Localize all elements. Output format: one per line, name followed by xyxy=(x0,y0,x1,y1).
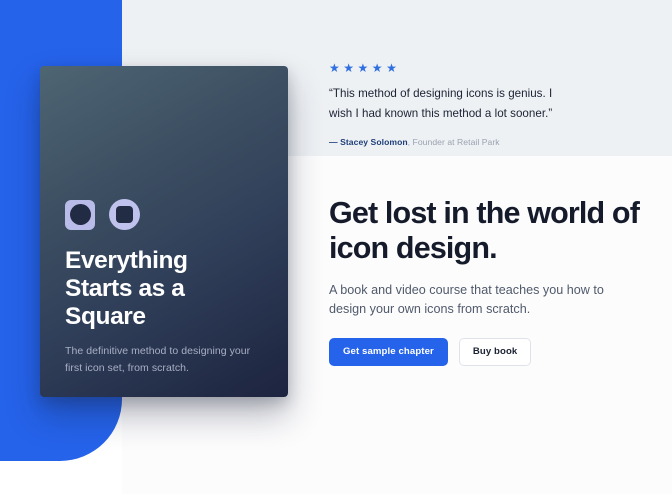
star-icon: ★ xyxy=(358,62,369,74)
testimonial-quote: “This method of designing icons is geniu… xyxy=(329,84,569,124)
buy-book-button[interactable]: Buy book xyxy=(459,338,532,366)
testimonial-author: Stacey Solomon xyxy=(340,137,408,147)
attribution-dash: — xyxy=(329,137,338,147)
book-title: Everything Starts as a Square xyxy=(65,247,245,331)
landing-page: Everything Starts as a Square The defini… xyxy=(0,0,672,494)
page-title: Get lost in the world of icon design. xyxy=(329,196,641,266)
book-cover-icons xyxy=(65,199,140,230)
hero-section: Get lost in the world of icon design. A … xyxy=(329,196,649,366)
book-subtitle: The definitive method to designing your … xyxy=(65,343,263,377)
square-with-circle-icon xyxy=(65,200,95,230)
star-icon: ★ xyxy=(329,62,340,74)
testimonial: ★ ★ ★ ★ ★ “This method of designing icon… xyxy=(329,62,629,148)
book-cover[interactable]: Everything Starts as a Square The defini… xyxy=(40,66,288,397)
star-icon: ★ xyxy=(343,62,354,74)
star-icon: ★ xyxy=(386,62,397,74)
book-cover-content: Everything Starts as a Square The defini… xyxy=(65,66,266,397)
get-sample-chapter-button[interactable]: Get sample chapter xyxy=(329,338,448,366)
star-rating: ★ ★ ★ ★ ★ xyxy=(329,62,629,74)
star-icon: ★ xyxy=(372,62,383,74)
testimonial-role: , Founder at Retail Park xyxy=(408,137,500,147)
hero-subheading: A book and video course that teaches you… xyxy=(329,281,629,319)
cta-row: Get sample chapter Buy book xyxy=(329,338,649,366)
circle-with-square-icon xyxy=(109,199,140,230)
testimonial-attribution: — Stacey Solomon, Founder at Retail Park xyxy=(329,136,629,148)
